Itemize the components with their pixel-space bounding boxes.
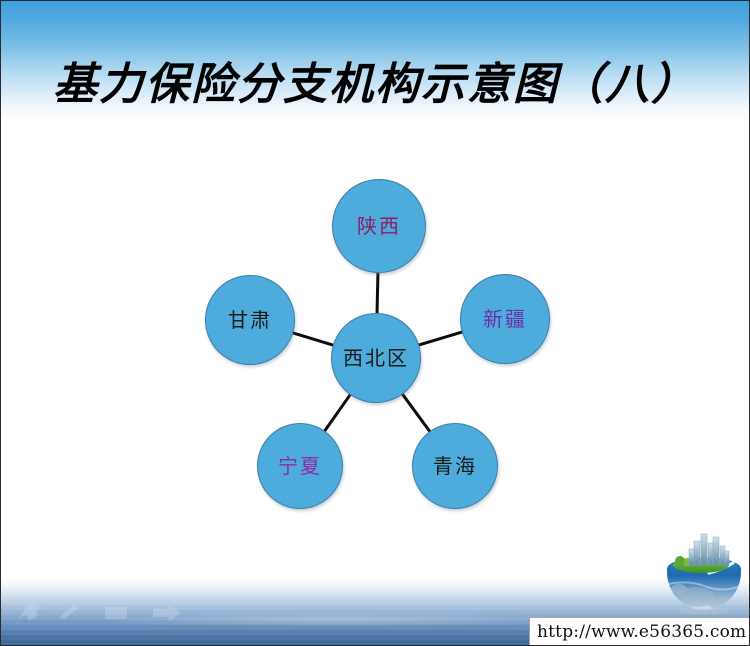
center-node[interactable]: 西北区: [331, 313, 421, 403]
org-diagram: 陕西甘肃新疆宁夏青海西北区: [1, 1, 750, 646]
node-gansu[interactable]: 甘肃: [205, 275, 295, 365]
edge-center-to-node-gansu: [293, 333, 333, 345]
slide-canvas: 基力保险分支机构示意图（八） 陕西甘肃新疆宁夏青海西北区: [0, 0, 750, 646]
node-ningxia-label: 宁夏: [278, 455, 322, 477]
node-xinjiang-label: 新疆: [483, 308, 527, 330]
center-node-label: 西北区: [343, 347, 409, 369]
node-qinghai-label: 青海: [433, 455, 477, 477]
node-gansu-label: 甘肃: [228, 309, 272, 331]
edge-center-to-node-xinjiang: [419, 332, 462, 345]
node-shaanxi-label: 陕西: [357, 215, 401, 237]
website-url-text: http://www.e56365.com: [537, 622, 746, 642]
edge-center-to-node-shaanxi: [377, 273, 378, 313]
globe-city-logo-icon: [661, 529, 747, 615]
node-xinjiang[interactable]: 新疆: [460, 274, 550, 364]
edge-center-to-node-qinghai: [403, 394, 430, 431]
website-url-bar[interactable]: http://www.e56365.com: [529, 617, 750, 646]
node-ningxia[interactable]: 宁夏: [257, 423, 343, 509]
edge-center-to-node-ningxia: [325, 395, 350, 431]
node-qinghai[interactable]: 青海: [412, 423, 498, 509]
node-shaanxi[interactable]: 陕西: [332, 179, 426, 273]
